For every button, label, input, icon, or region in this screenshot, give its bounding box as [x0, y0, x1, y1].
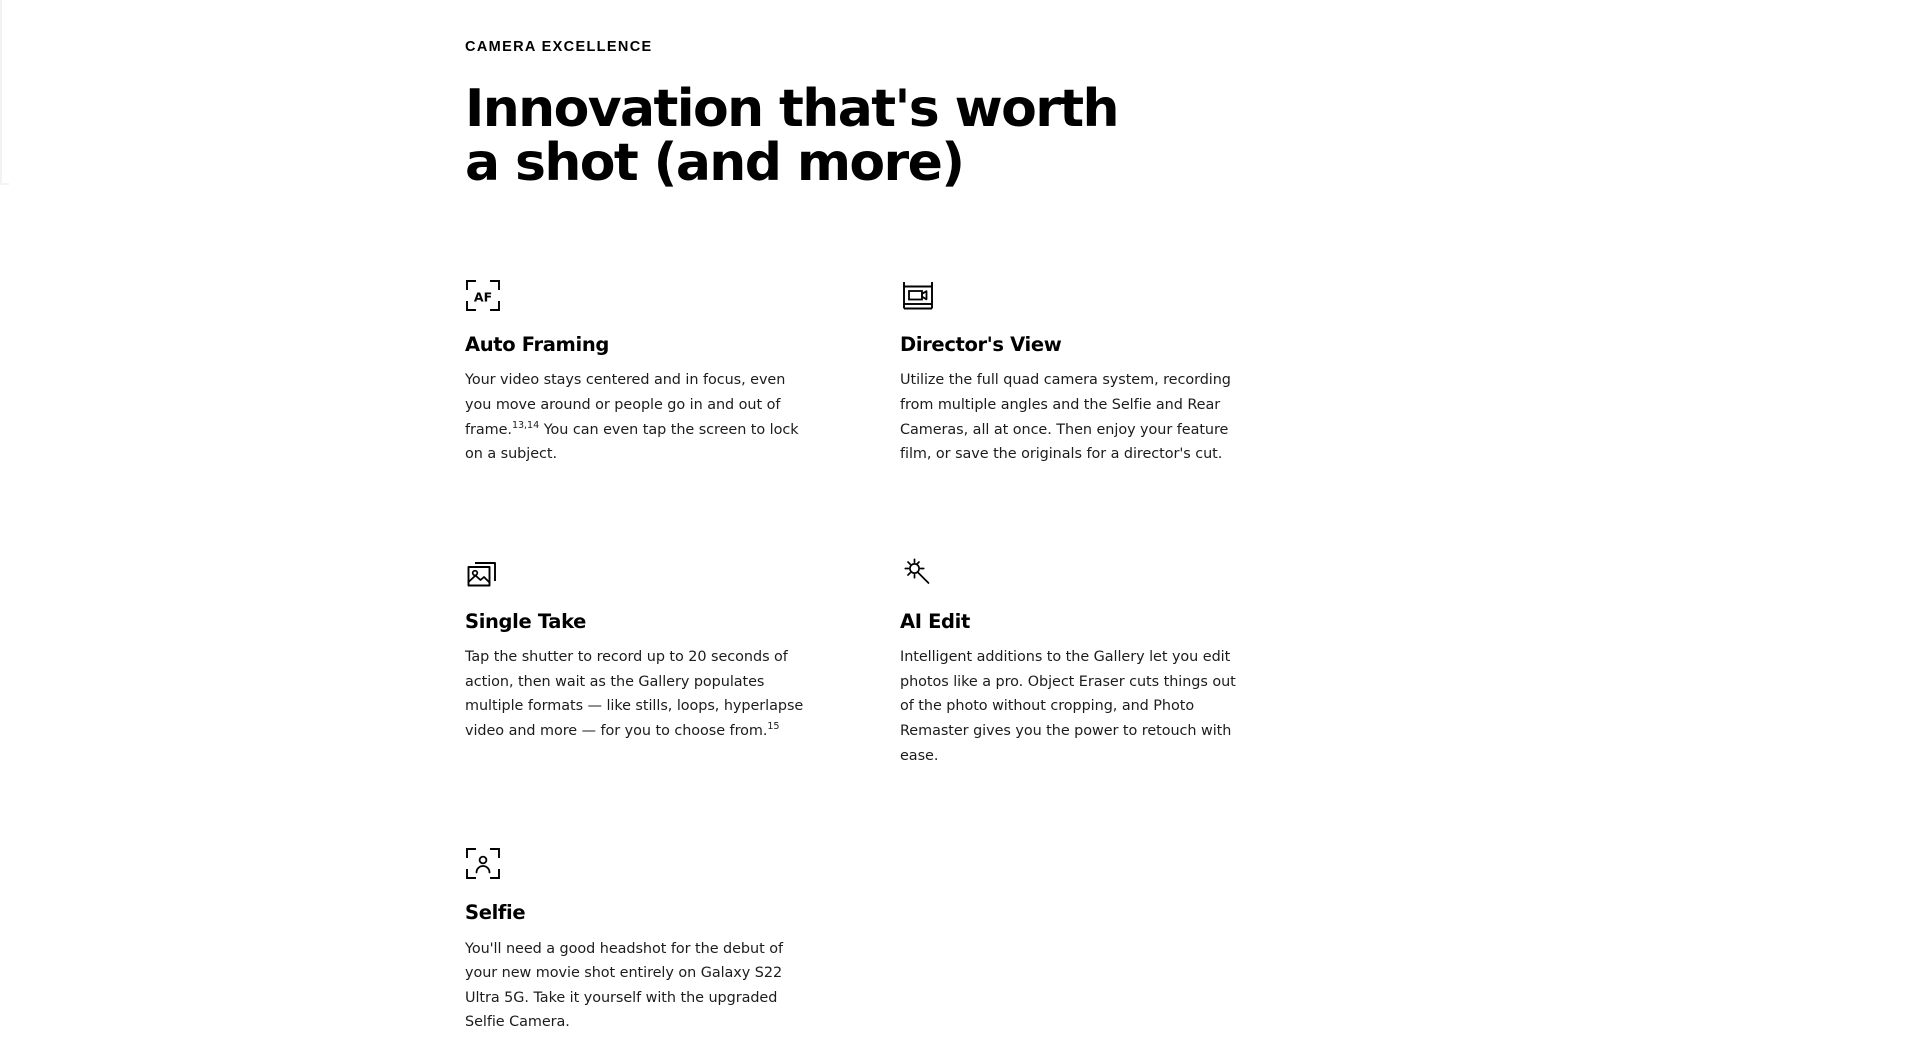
feature-description-text: Utilize the full quad camera system, rec…: [900, 372, 1231, 462]
features-row-1: AF Auto Framing Your video stays centere…: [465, 272, 1335, 467]
feature-description-text: Intelligent additions to the Gallery let…: [900, 649, 1236, 763]
left-edge-artifact: [0, 0, 2, 185]
film-frame-video-camera-icon: [900, 272, 1245, 312]
features-grid: AF Auto Framing Your video stays centere…: [465, 272, 1335, 1035]
feature-description: Your video stays centered and in focus, …: [465, 368, 810, 466]
svg-text:AF: AF: [474, 290, 492, 305]
feature-title: Auto Framing: [465, 333, 810, 356]
footnote-marker: 15: [767, 721, 779, 732]
feature-description: Tap the shutter to record up to 20 secon…: [465, 645, 810, 743]
section-eyebrow: CAMERA EXCELLENCE: [465, 0, 1325, 55]
row-spacer: [465, 467, 1335, 549]
feature-title: Director's View: [900, 333, 1245, 356]
section-header: CAMERA EXCELLENCE Innovation that's wort…: [465, 0, 1325, 191]
feature-description-text: You'll need a good headshot for the debu…: [465, 941, 783, 1031]
feature-description: You'll need a good headshot for the debu…: [465, 937, 810, 1035]
feature-card-directors-view: Director's View Utilize the full quad ca…: [900, 272, 1335, 467]
feature-title: Single Take: [465, 610, 810, 633]
feature-card-selfie: Selfie You'll need a good headshot for t…: [465, 840, 900, 1035]
magic-wand-sparkle-icon: [900, 549, 1245, 589]
feature-title: Selfie: [465, 901, 810, 924]
footnote-marker: 13,14: [512, 420, 539, 431]
features-row-3: Selfie You'll need a good headshot for t…: [465, 840, 1335, 1035]
section-headline: Innovation that's worth a shot (and more…: [465, 55, 1325, 191]
feature-description-text: Tap the shutter to record up to 20 secon…: [465, 649, 803, 739]
left-edge-artifact-secondary: [0, 183, 9, 185]
feature-description: Utilize the full quad camera system, rec…: [900, 368, 1245, 466]
feature-card-placeholder: [900, 840, 1335, 1035]
stacked-photos-icon: [465, 549, 810, 589]
feature-card-single-take: Single Take Tap the shutter to record up…: [465, 549, 900, 768]
person-in-frame-icon: [465, 840, 810, 880]
auto-focus-frame-icon: AF: [465, 272, 810, 312]
features-row-2: Single Take Tap the shutter to record up…: [465, 549, 1335, 768]
feature-description: Intelligent additions to the Gallery let…: [900, 645, 1245, 768]
row-spacer: [465, 768, 1335, 840]
feature-card-auto-framing: AF Auto Framing Your video stays centere…: [465, 272, 900, 467]
feature-card-ai-edit: AI Edit Intelligent additions to the Gal…: [900, 549, 1335, 768]
feature-title: AI Edit: [900, 610, 1245, 633]
camera-excellence-section: CAMERA EXCELLENCE Innovation that's wort…: [0, 0, 1920, 1056]
